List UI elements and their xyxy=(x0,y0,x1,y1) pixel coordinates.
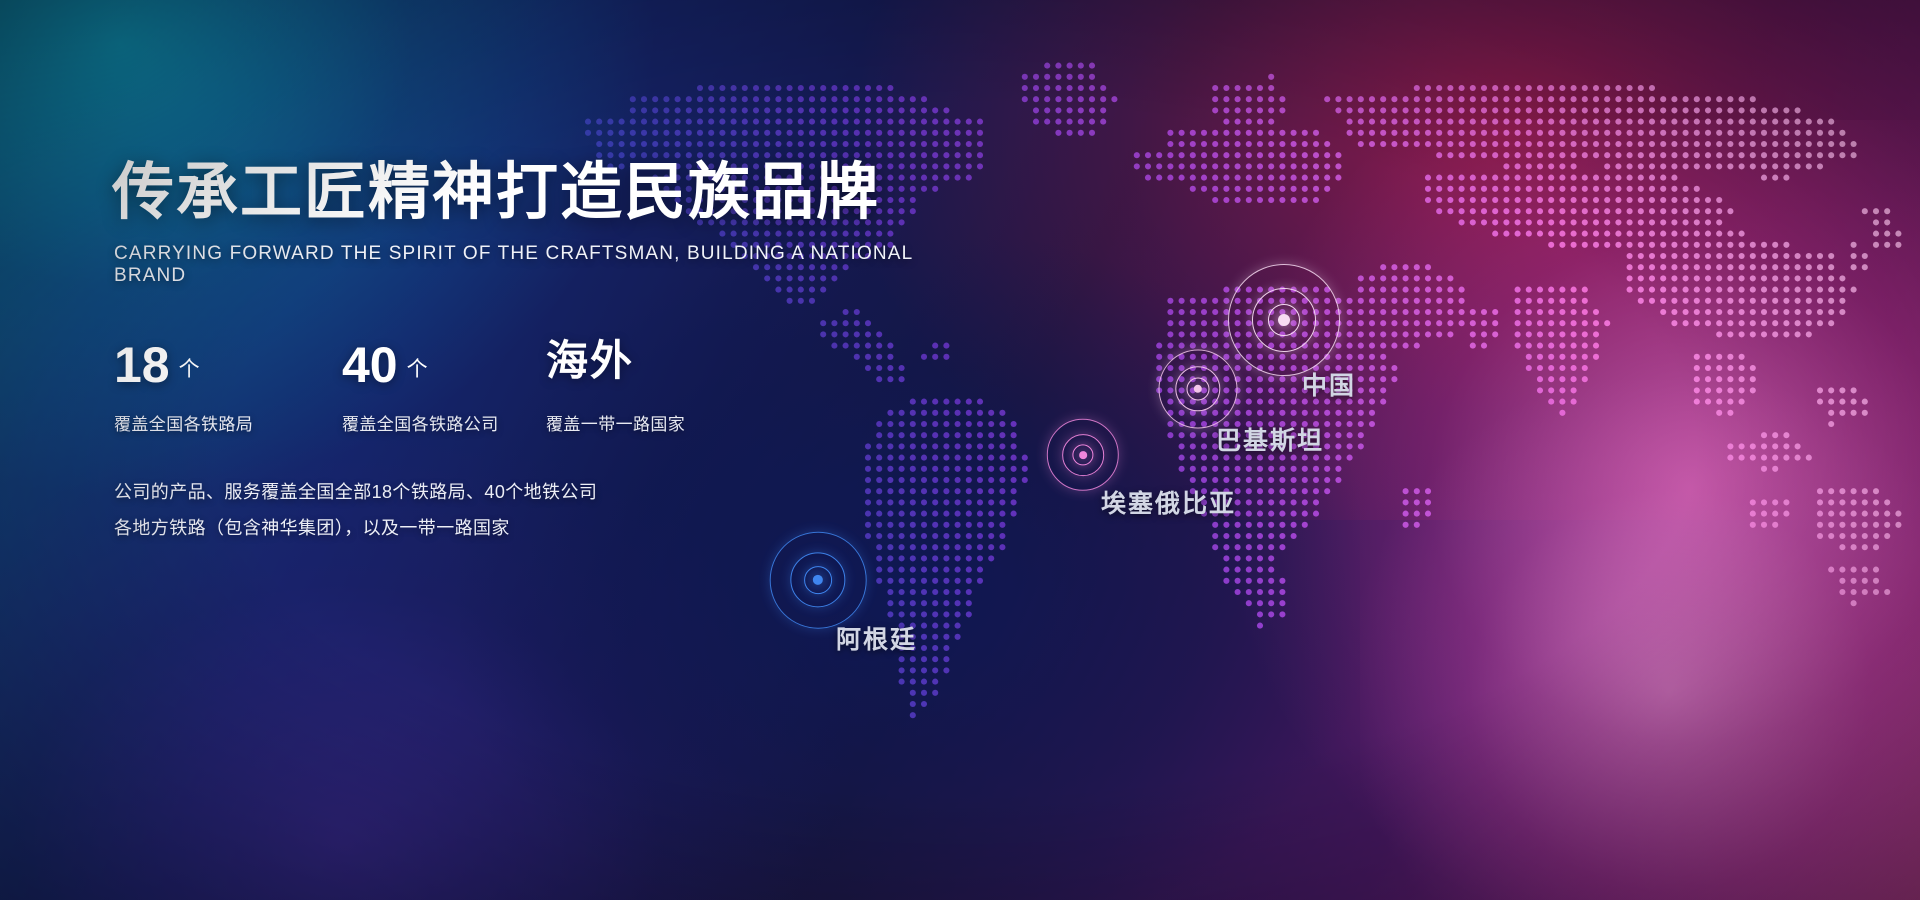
vignette-overlay xyxy=(0,0,1920,900)
hero-banner: 中国巴基斯坦埃塞俄比亚阿根廷 传承工匠精神打造民族品牌 CARRYING FOR… xyxy=(0,0,1920,900)
